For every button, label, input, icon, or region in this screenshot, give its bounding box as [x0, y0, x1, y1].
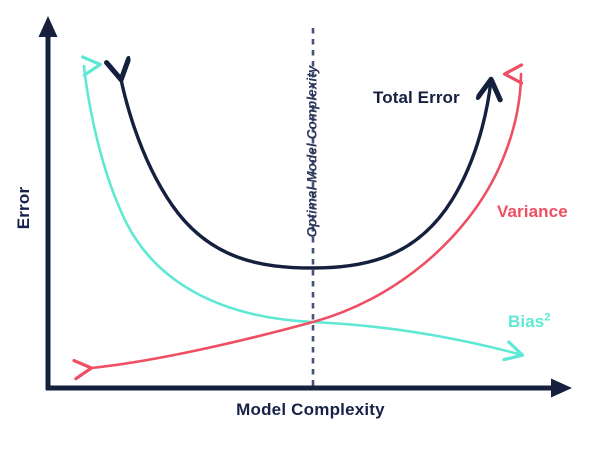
legend-label-bias-squared: Bias2 — [508, 312, 551, 332]
y-axis — [39, 16, 58, 390]
legend-label-variance: Variance — [497, 202, 568, 222]
legend-label-total-error: Total Error — [373, 88, 460, 108]
x-axis-label: Model Complexity — [168, 400, 453, 420]
bias-variance-tradeoff-figure: Error Model Complexity Optimal Model Com… — [0, 0, 614, 456]
y-axis-label: Error — [14, 168, 34, 248]
optimal-complexity-label: Optimal Model Complexity — [305, 62, 320, 242]
legend-label-bias-superscript: 2 — [544, 311, 550, 323]
legend-label-bias-text: Bias — [508, 312, 544, 331]
bias-squared-curve — [84, 66, 522, 355]
x-axis — [46, 379, 572, 398]
